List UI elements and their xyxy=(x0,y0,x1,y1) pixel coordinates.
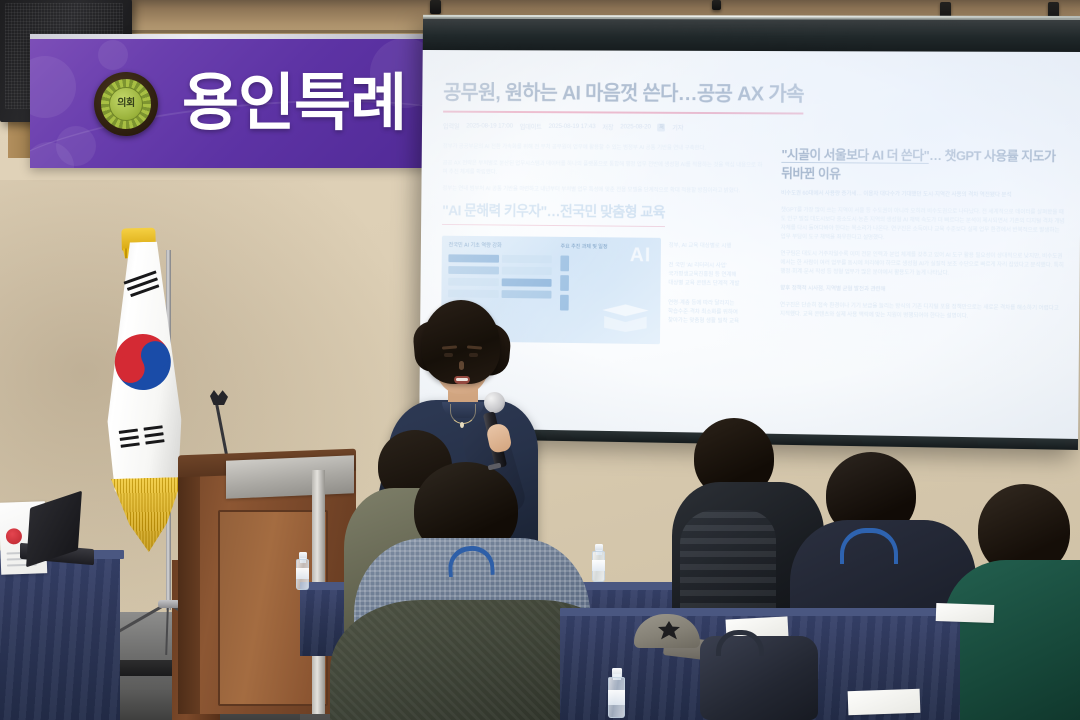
presenter-hair xyxy=(422,300,500,384)
audience-torso xyxy=(944,560,1080,720)
bullet-group: 정부, AI 교육 대상별로 시행 xyxy=(669,242,740,252)
infographic-pill xyxy=(501,267,551,275)
bullet-line: 정부, AI 교육 대상별로 시행 xyxy=(669,242,740,252)
infographic-left-panel: 전국민 AI 기초 역량 강화 xyxy=(448,243,552,303)
infographic-list-item xyxy=(560,256,630,272)
emblem-center: 의회 xyxy=(109,87,143,121)
bullet-line: 찾아가는 맞춤형 생활 밀착 교육 xyxy=(668,317,739,327)
venue-banner-title: 용인특례 xyxy=(182,72,406,136)
infographic-lines xyxy=(573,275,630,276)
open-book-icon xyxy=(600,302,651,332)
track-light-icon xyxy=(712,0,721,10)
infographic-pill xyxy=(501,290,551,298)
article-sub-heading: "AI 문해력 키우자"…전국민 맞춤형 교육 xyxy=(442,201,665,227)
infographic-row xyxy=(448,254,551,263)
banner-top-trim xyxy=(30,34,430,39)
infographic-row xyxy=(448,278,551,287)
infographic-pill xyxy=(448,278,498,286)
water-bottle[interactable] xyxy=(296,552,309,590)
audience-member xyxy=(958,484,1080,720)
right-article-title-rest: … 챗GPT 사용률 지도가 xyxy=(929,148,1055,164)
water-bottle[interactable] xyxy=(608,668,625,718)
infographic-pill xyxy=(448,254,498,262)
meta-updated: 2025-08-19 17:43 xyxy=(549,123,596,130)
infographic-tag xyxy=(560,295,569,311)
screen-top-casing xyxy=(423,17,1080,52)
venue-banner: 의회 용인특례 xyxy=(30,34,430,168)
article-paragraph: 정부는 연내 범부처 AI 공통 기반을 마련하고 내년부터 부처별 업무 특성… xyxy=(442,185,765,196)
water-bottle[interactable] xyxy=(592,544,605,582)
banner-bokeh xyxy=(98,40,128,70)
infographic-lines xyxy=(573,295,630,296)
infographic-bullets: 정부, AI 교육 대상별로 시행 전 국민 'AI 리터러시 사업' 국가평생… xyxy=(668,238,740,345)
flag-gold-fringe xyxy=(108,477,188,553)
handheld-microphone-icon xyxy=(484,392,505,413)
infographic-row xyxy=(448,289,551,298)
right-article-title-line2: 뒤바뀐 이유 xyxy=(781,166,840,181)
infographic-pill xyxy=(501,255,551,263)
meta-saved-label: 저장 xyxy=(602,122,613,131)
handout-paper[interactable] xyxy=(936,603,995,623)
slide-right-column: "시골이 서울보다 AI 더 쓴다"… 챗GPT 사용률 지도가 뒤바뀐 이유 … xyxy=(780,145,1067,350)
infographic-row xyxy=(448,266,551,275)
right-article-lead: 비수도권 60대에서 사용량 증가세… 이용자 대다수가 기대했던 도시·지역간… xyxy=(781,190,1066,201)
right-article-paragraph: 챗GPT를 가장 많이 쓰는 지역이 서울 등 수도권이 아니라 오히려 비수도… xyxy=(781,206,1067,244)
infographic-tag xyxy=(560,275,569,291)
presenter-eye xyxy=(444,353,453,357)
article-paragraph: 정부가 공공부문의 AI 전환 가속화를 위해 전 부처 공무원이 업무에 활용… xyxy=(443,143,766,154)
right-article-title-quote: "시골이 서울보다 AI 더 쓴다" xyxy=(781,147,929,164)
presenter-pendant xyxy=(460,422,464,428)
council-emblem-icon: 의회 xyxy=(94,72,158,136)
presenter-eye xyxy=(469,353,478,357)
meta-saved: 2025-08-20 xyxy=(620,123,651,130)
bullet-line: 대상별 교육 콘텐츠 단계적 개발 xyxy=(668,279,739,289)
puffer-vest xyxy=(680,510,776,622)
infographic-ai-watermark: AI xyxy=(630,245,651,265)
side-table-skirt xyxy=(0,556,120,720)
infographic-pill xyxy=(448,266,498,274)
flag-stand-leg xyxy=(165,603,169,655)
reporter-badge-icon: 저 xyxy=(658,123,666,131)
track-light-icon xyxy=(430,0,441,14)
meta-published: 2025-08-19 17:00 xyxy=(466,122,513,129)
presenter-mouth xyxy=(454,376,470,384)
article-meta: 입력일 2025-08-19 17:00 업데이트 2025-08-19 17:… xyxy=(443,121,1067,134)
meta-published-label: 입력일 xyxy=(443,121,460,130)
infographic-pill xyxy=(501,278,551,286)
right-article-title: "시골이 서울보다 AI 더 쓴다"… 챗GPT 사용률 지도가 뒤바뀐 이유 xyxy=(781,145,1067,185)
conference-photo: 의회 용인특례 공무원, 원하는 AI 마음껏 쓴다…공공 AX 가속 입력일 … xyxy=(0,0,1080,720)
infographic-right-header: 주요 추진 과제 및 일정 xyxy=(561,244,630,252)
infographic-lines xyxy=(573,256,630,257)
sign-logo-icon xyxy=(6,528,23,545)
article-title: 공무원, 원하는 AI 마음껏 쓴다…공공 AX 가속 xyxy=(443,79,804,114)
bullet-group: 연령·계층 등에 따라 달라지는 학습수준·격차 최소화를 위하여 찾아가는 맞… xyxy=(668,299,739,327)
presenter-nose xyxy=(459,361,464,370)
flag-stand-base xyxy=(158,600,180,608)
handout-paper[interactable] xyxy=(848,689,921,715)
bullet-group: 전 국민 'AI 리터러시 사업' 국가평생교육진흥원 등 연계해 대상별 교육… xyxy=(668,262,739,289)
infographic-pill xyxy=(448,289,498,297)
infographic-tag xyxy=(560,256,569,272)
right-article-subparagraph: 향후 정책적 시사점, 지역별 균형 발전과 관련해 xyxy=(780,285,1065,297)
meta-reporter-label: 기자 xyxy=(672,123,683,132)
infographic-list-item xyxy=(560,275,630,292)
emblem-label: 의회 xyxy=(117,99,134,109)
article-paragraph: 공공 AX 전략은 부처별로 분산된 업무시스템과 데이터를 하나의 플랫폼으로… xyxy=(443,159,766,179)
banner-bokeh xyxy=(30,56,76,118)
meta-updated-label: 업데이트 xyxy=(520,122,542,131)
right-article-paragraph: 연구팀은 대도시 거주자일수록 이미 전문 인력과 분업 체계를 갖추고 있어 … xyxy=(780,250,1066,280)
infographic-left-header: 전국민 AI 기초 역량 강화 xyxy=(449,243,552,251)
right-article-paragraph: 연구진은 단순히 접속 환경이나 기기 보급을 늘리는 방식의 기존 디지털 포… xyxy=(780,301,1065,322)
backpack[interactable] xyxy=(700,636,818,720)
